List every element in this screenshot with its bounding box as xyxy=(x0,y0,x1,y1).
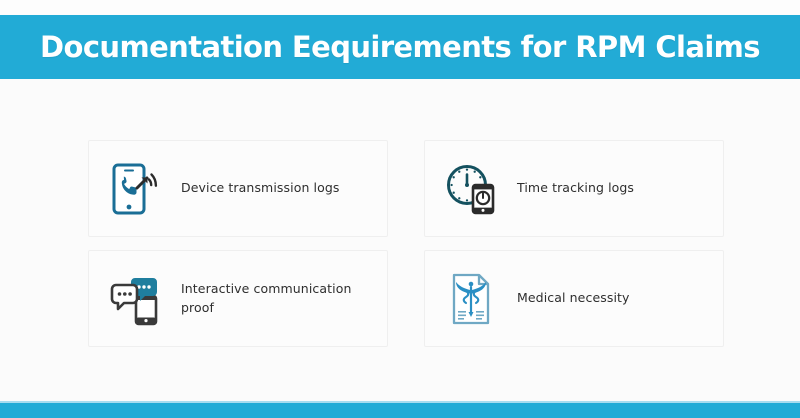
card-interactive-communication-proof[interactable]: Interactive communication proof xyxy=(88,250,388,347)
header-banner: Documentation Eequirements for RPM Claim… xyxy=(0,15,800,79)
card-time-tracking-logs[interactable]: Time tracking logs xyxy=(424,140,724,237)
chat-bubbles-phone-icon xyxy=(107,269,163,329)
infographic-page: Documentation Eequirements for RPM Claim… xyxy=(0,0,800,418)
bottom-accent-bar xyxy=(0,403,800,418)
phone-transmission-icon xyxy=(107,159,163,219)
page-title: Documentation Eequirements for RPM Claim… xyxy=(40,30,760,64)
card-label: Interactive communication proof xyxy=(181,280,373,318)
requirements-card-grid: Device transmission logs xyxy=(88,140,724,347)
clock-phone-icon xyxy=(443,159,499,219)
card-device-transmission-logs[interactable]: Device transmission logs xyxy=(88,140,388,237)
card-label: Medical necessity xyxy=(517,289,630,308)
card-medical-necessity[interactable]: Medical necessity xyxy=(424,250,724,347)
card-label: Device transmission logs xyxy=(181,179,340,198)
caduceus-document-icon xyxy=(443,269,499,329)
content-area: Device transmission logs xyxy=(0,79,800,403)
card-label: Time tracking logs xyxy=(517,179,634,198)
